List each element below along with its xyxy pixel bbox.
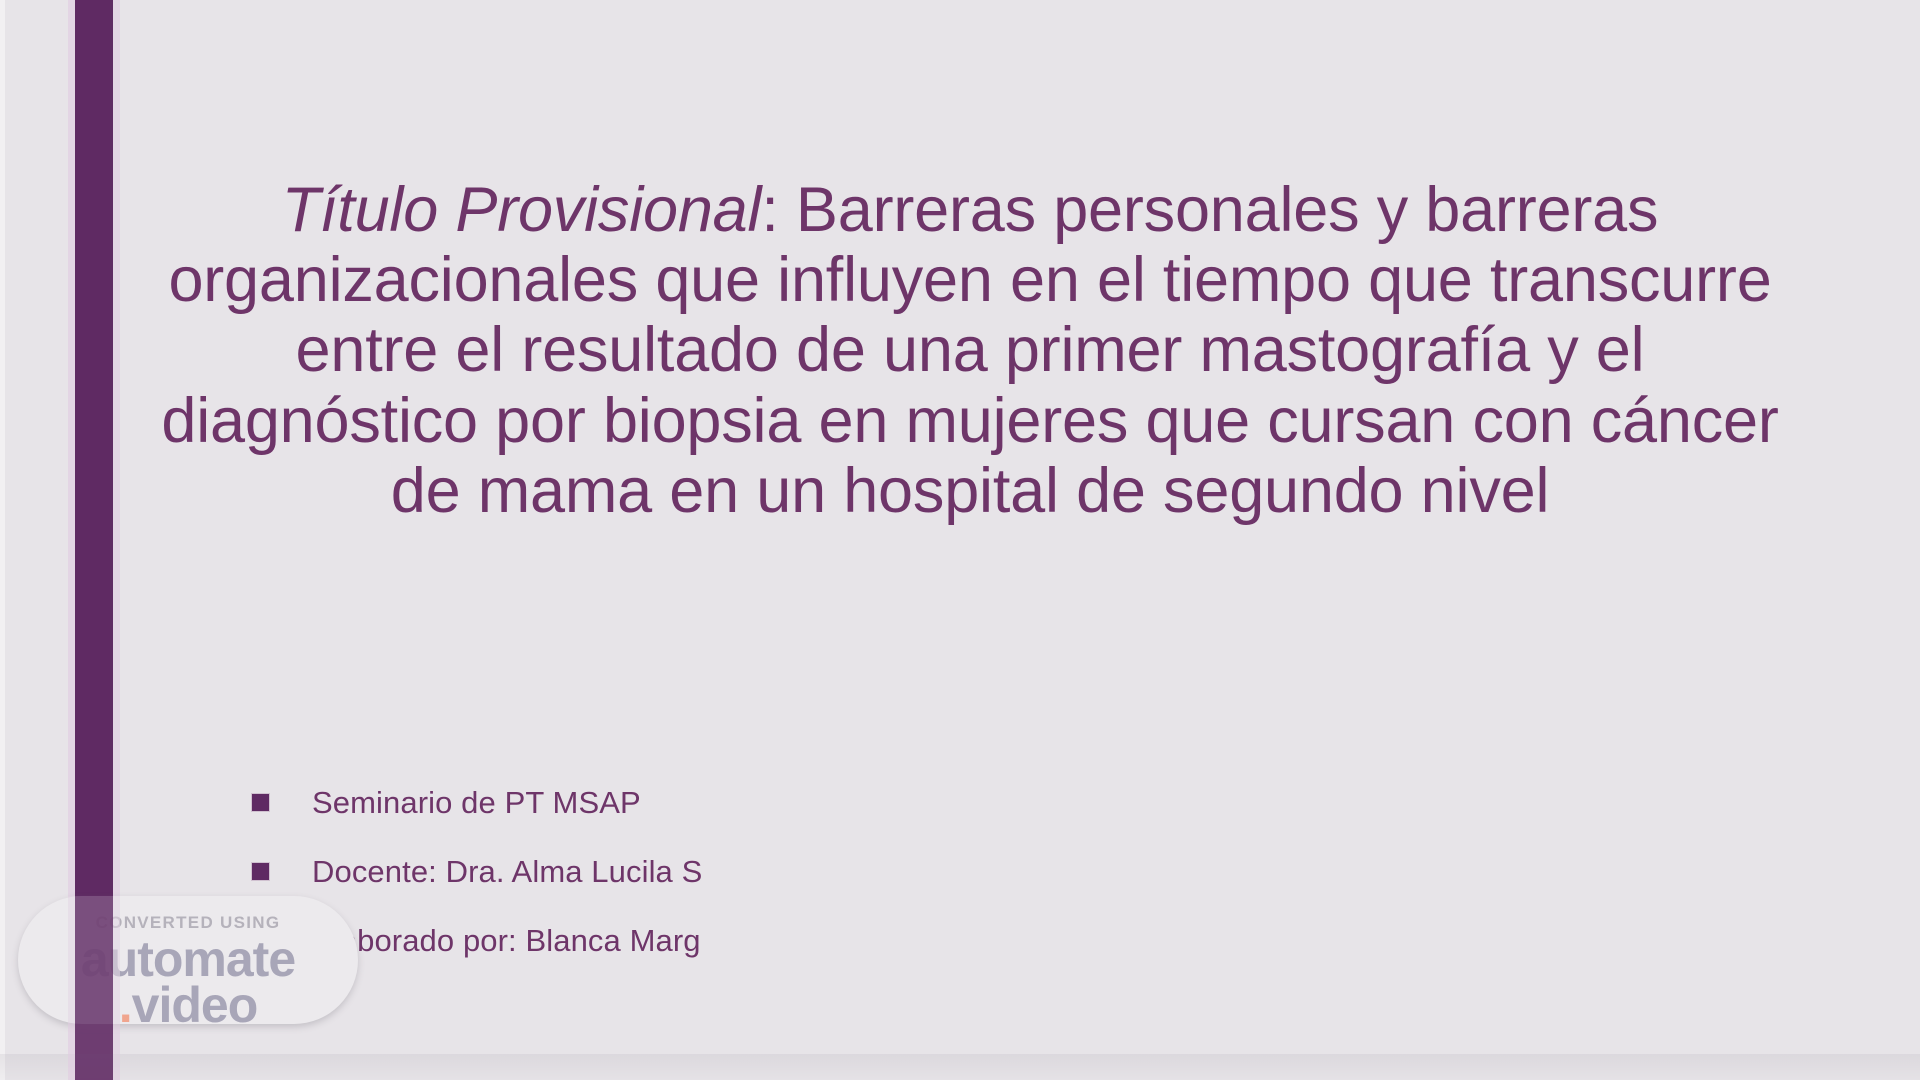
- list-item-label: Seminario de PT MSAP: [312, 785, 641, 821]
- bullet-square-icon: [252, 794, 269, 811]
- bottom-shadow: [0, 1054, 1920, 1080]
- title-emphasis: Título Provisional: [282, 175, 762, 245]
- title-area: Título Provisional: Barreras personales …: [150, 175, 1790, 526]
- accent-bar-overlay: [75, 896, 113, 1080]
- list-item-label: Docente: Dra. Alma Lucila S: [312, 854, 702, 890]
- left-edge-strip: [0, 0, 5, 1080]
- bullet-square-icon: [252, 863, 269, 880]
- list-item-label: Elaborado por: Blanca Marg: [312, 923, 701, 959]
- list-item: Seminario de PT MSAP: [252, 768, 1252, 837]
- watermark-domain-label: video: [132, 977, 258, 1033]
- slide-title: Título Provisional: Barreras personales …: [150, 175, 1790, 526]
- presentation-slide: Título Provisional: Barreras personales …: [0, 0, 1920, 1080]
- text-reveal-mask: [770, 838, 1920, 1038]
- watermark-dot: .: [119, 977, 132, 1033]
